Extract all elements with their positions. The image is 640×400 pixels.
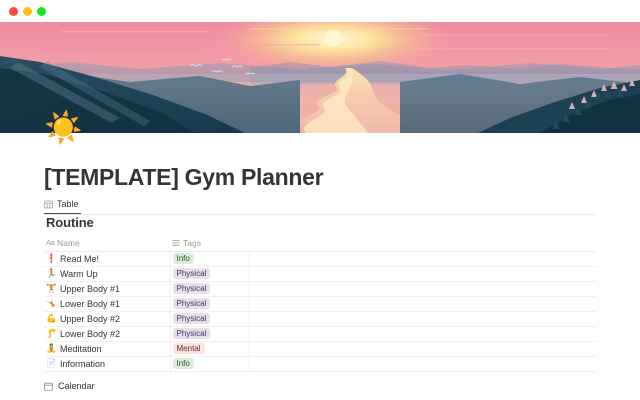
minimize-window-button[interactable] [23, 7, 32, 16]
cell-name[interactable]: 📄Information [44, 356, 170, 371]
cell-name[interactable]: ❗Read Me! [44, 251, 170, 266]
page-content: [TEMPLATE] Gym Planner Table Routine [0, 133, 640, 400]
table-row[interactable]: 💪Upper Body #2Physical [44, 311, 596, 326]
cell-blank[interactable] [249, 326, 596, 341]
tag-badge: Physical [173, 283, 211, 294]
tab-table[interactable]: Table [44, 195, 81, 214]
meditation-emoji: 🧘 [46, 343, 56, 354]
cell-tags[interactable]: Physical [170, 266, 249, 281]
cell-blank[interactable] [249, 266, 596, 281]
cell-tags[interactable]: Physical [170, 311, 249, 326]
cell-blank[interactable] [249, 281, 596, 296]
flexed-biceps-emoji: 💪 [46, 313, 56, 324]
table-row[interactable]: ❗Read Me!Info [44, 251, 596, 266]
runner-emoji: 🏃 [46, 268, 56, 279]
row-name-label: Lower Body #1 [60, 299, 120, 309]
cell-tags[interactable]: Info [170, 251, 249, 266]
table-icon [44, 200, 53, 209]
column-header-name[interactable]: Aa Name [44, 235, 170, 251]
column-header-name-label: Name [57, 238, 80, 248]
table-row[interactable]: 🏋️Upper Body #1Physical [44, 281, 596, 296]
cell-name[interactable]: 🦵Lower Body #2 [44, 326, 170, 341]
page-icon-sun-emoji[interactable]: ☀️ [44, 110, 80, 146]
row-name-label: Lower Body #2 [60, 329, 120, 339]
maximize-window-button[interactable] [37, 7, 46, 16]
database-routine: Routine Aa Name [44, 215, 596, 372]
leg-emoji: 🦵 [46, 328, 56, 339]
tab-table-label: Table [57, 199, 79, 209]
tag-badge: Physical [173, 328, 211, 339]
weight-lifter-emoji: 🏋️ [46, 283, 56, 294]
cell-blank[interactable] [249, 296, 596, 311]
cell-tags[interactable]: Mental [170, 341, 249, 356]
page-cover-image[interactable] [0, 22, 640, 133]
row-name-label: Information [60, 359, 105, 369]
cartwheel-emoji: 🤸 [46, 298, 56, 309]
cell-name[interactable]: 🧘Meditation [44, 341, 170, 356]
multi-select-icon [172, 239, 180, 247]
exclamation-mark-emoji: ❗ [46, 253, 56, 264]
table-row[interactable]: 📄InformationInfo [44, 356, 596, 371]
cell-name[interactable]: 🏃Warm Up [44, 266, 170, 281]
calendar-icon [44, 382, 53, 391]
cell-blank[interactable] [249, 311, 596, 326]
cell-blank[interactable] [249, 356, 596, 371]
table-header-row: Aa Name [44, 235, 596, 251]
table-row[interactable]: 🏃Warm UpPhysical [44, 266, 596, 281]
tag-badge: Physical [173, 268, 211, 279]
text-aa-icon: Aa [46, 239, 54, 247]
cell-tags[interactable]: Physical [170, 296, 249, 311]
cell-name[interactable]: 💪Upper Body #2 [44, 311, 170, 326]
row-name-label: Read Me! [60, 254, 99, 264]
close-window-button[interactable] [9, 7, 18, 16]
row-name-label: Upper Body #1 [60, 284, 120, 294]
cell-tags[interactable]: Physical [170, 326, 249, 341]
database-calendar[interactable]: Calendar [44, 381, 95, 391]
app-window: ☀️ [TEMPLATE] Gym Planner Table Routine [0, 0, 640, 400]
row-name-label: Warm Up [60, 269, 98, 279]
cell-blank[interactable] [249, 341, 596, 356]
database-title-calendar: Calendar [58, 381, 95, 391]
table-row[interactable]: 🦵Lower Body #2Physical [44, 326, 596, 341]
column-header-tags[interactable]: Tags [170, 235, 249, 251]
row-name-label: Meditation [60, 344, 102, 354]
table-row[interactable]: 🧘MeditationMental [44, 341, 596, 356]
window-titlebar [0, 0, 640, 22]
cell-tags[interactable]: Info [170, 356, 249, 371]
table-row[interactable]: 🤸Lower Body #1Physical [44, 296, 596, 311]
cell-blank[interactable] [249, 251, 596, 266]
database-view-tabs: Table [44, 195, 596, 215]
database-title-routine[interactable]: Routine [44, 215, 596, 235]
tag-badge: Mental [173, 343, 205, 354]
tag-badge: Info [173, 358, 194, 369]
cell-tags[interactable]: Physical [170, 281, 249, 296]
column-header-tags-label: Tags [183, 238, 201, 248]
tag-badge: Physical [173, 298, 211, 309]
tag-badge: Info [173, 253, 194, 264]
page-emoji: 📄 [46, 358, 56, 369]
cell-name[interactable]: 🤸Lower Body #1 [44, 296, 170, 311]
column-header-blank[interactable] [249, 235, 596, 251]
routine-table: Aa Name [44, 235, 596, 372]
cell-name[interactable]: 🏋️Upper Body #1 [44, 281, 170, 296]
tag-badge: Physical [173, 313, 211, 324]
row-name-label: Upper Body #2 [60, 314, 120, 324]
page-title[interactable]: [TEMPLATE] Gym Planner [44, 164, 323, 191]
